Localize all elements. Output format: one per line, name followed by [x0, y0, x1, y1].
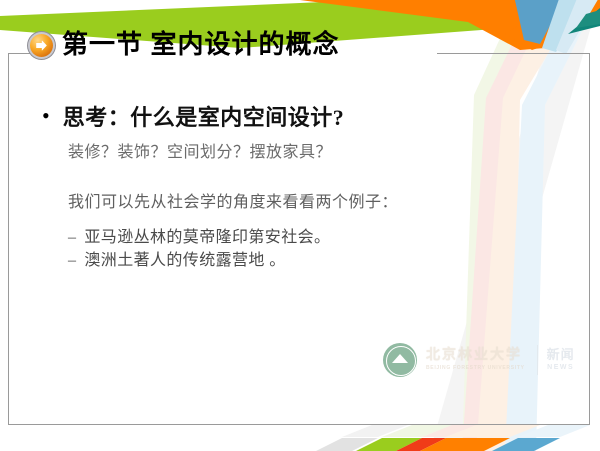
ribbon-orange [300, 0, 600, 50]
ribbon-teal-2 [576, 10, 600, 28]
body-paragraph: 我们可以先从社会学的角度来看看两个例子： [68, 188, 600, 212]
ribbon-teal [568, 8, 600, 34]
bottom-stripe-band [0, 425, 600, 451]
slide-canvas: 第一节 室内设计的概念 • 思考：什么是室内空间设计? 装修？装饰？空间划分？摆… [0, 0, 600, 451]
university-name-cn: 北京林业大学 [426, 348, 525, 363]
list-item-label: 亚马逊丛林的莫帝隆印第安社会。 [84, 226, 330, 249]
news-label-cn: 新闻 [547, 348, 575, 362]
ribbon-blue [514, 0, 566, 44]
bullet-sub-text: 装修？装饰？空间划分？摆放家具？ [68, 138, 600, 162]
dash-marker: – [68, 226, 76, 249]
dash-marker: – [68, 249, 76, 272]
circle-arrow-right-icon [30, 34, 53, 57]
bullet-main-row: • 思考：什么是室内空间设计? [42, 100, 600, 132]
list-item: – 亚马逊丛林的莫帝隆印第安社会。 [68, 226, 600, 249]
ribbon-lightblue-thin [556, 0, 600, 54]
watermark-divider [537, 345, 538, 375]
slide-body: • 思考：什么是室内空间设计? 装修？装饰？空间划分？摆放家具？ 我们可以先从社… [0, 100, 600, 272]
news-label-en: NEWS [547, 364, 574, 371]
list-item-label: 澳洲土著人的传统露营地 。 [84, 249, 285, 272]
slide-title-row: 第一节 室内设计的概念 [30, 32, 340, 58]
university-crest-icon [383, 343, 417, 377]
ribbon-lightblue [542, 0, 590, 52]
ribbon-orange-tail [505, 22, 556, 50]
frame-line-top-left [8, 53, 30, 54]
page-title: 第一节 室内设计的概念 [62, 32, 340, 58]
university-name-block: 北京林业大学 BEIJING FORESTRY UNIVERSITY [426, 348, 525, 371]
list-item: – 澳洲土著人的传统露营地 。 [68, 249, 600, 272]
bullet-main-text: 思考：什么是室内空间设计? [63, 100, 345, 132]
frame-line-top-right [437, 53, 590, 54]
university-name-en: BEIJING FORESTRY UNIVERSITY [426, 365, 525, 371]
university-watermark: 北京林业大学 BEIJING FORESTRY UNIVERSITY 新闻 NE… [377, 337, 590, 382]
bullet-marker: • [42, 105, 50, 127]
news-channel-block: 新闻 NEWS [547, 348, 575, 370]
